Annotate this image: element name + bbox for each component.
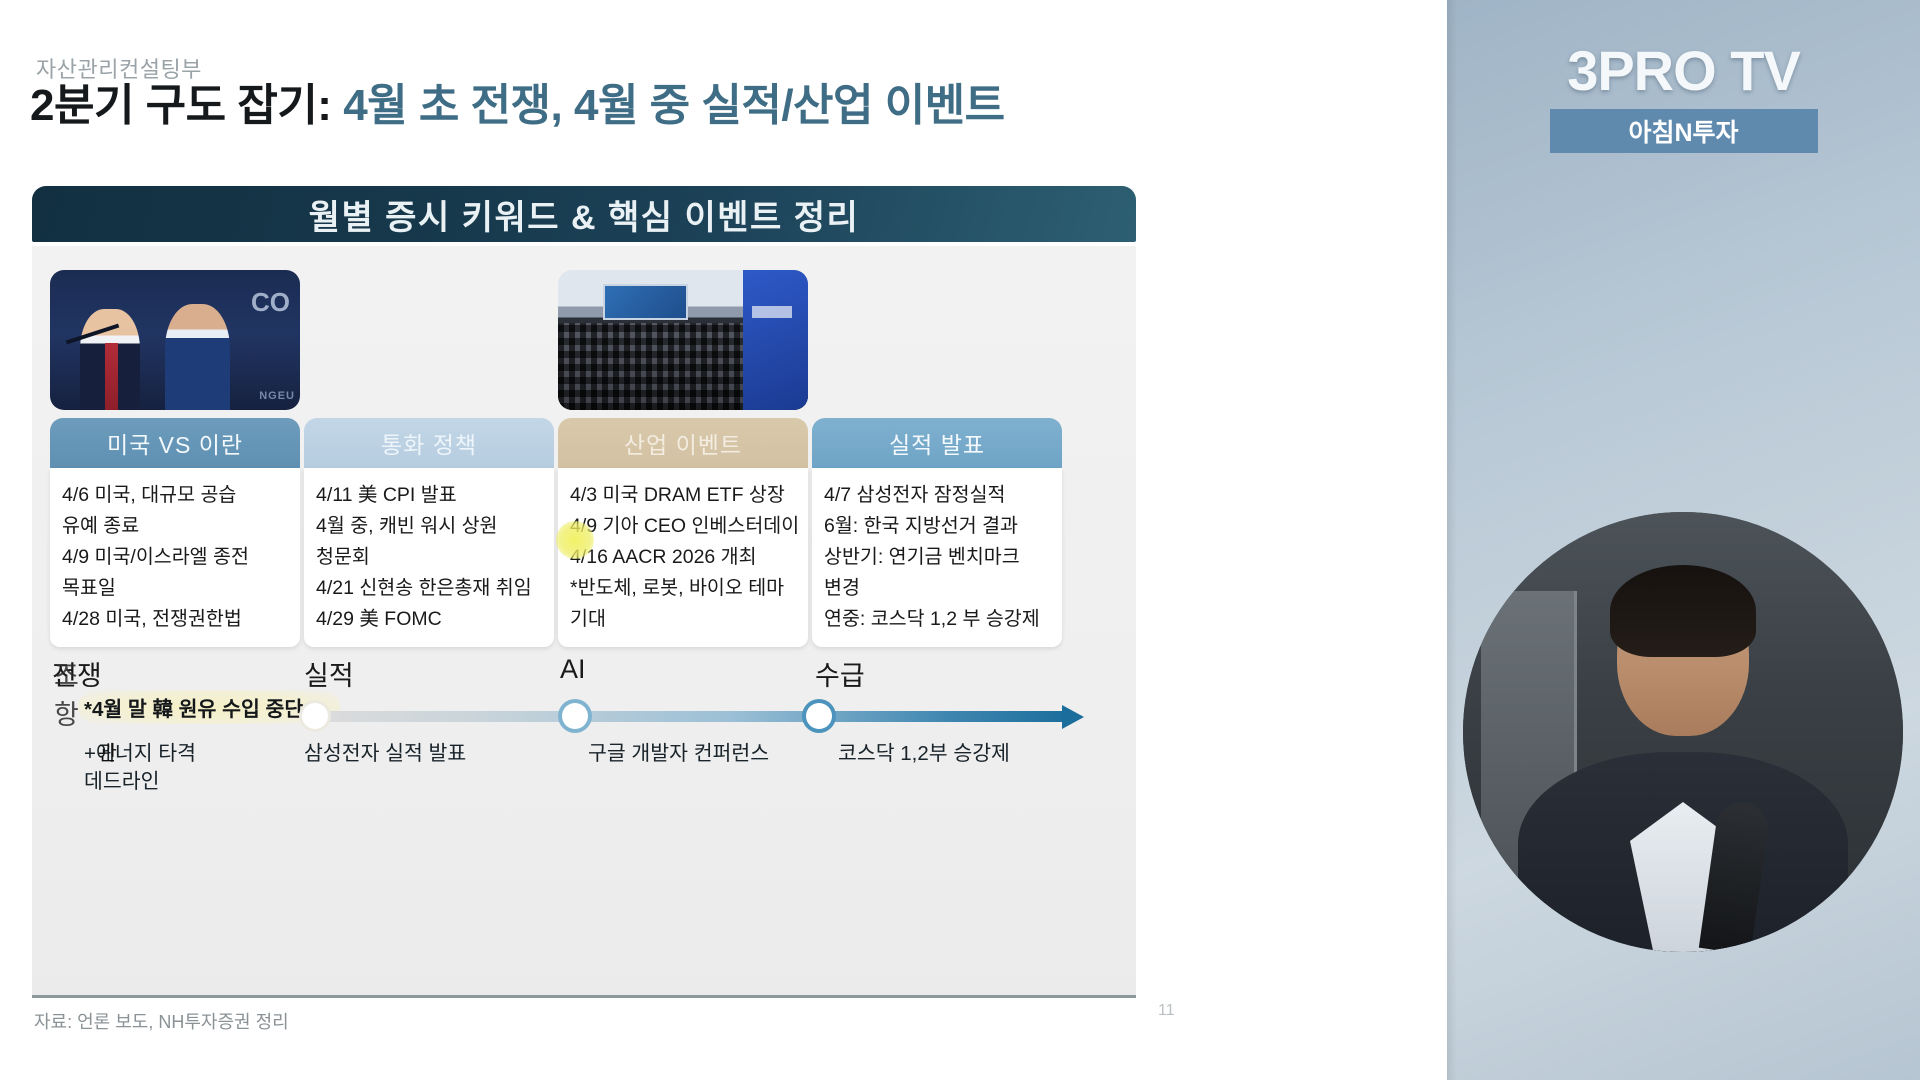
- slide-title: 2분기 구도 잡기: 4월 초 전쟁, 4월 중 실적/산업 이벤트: [30, 78, 1140, 134]
- timeline-caption-ai: 구글 개발자 컨퍼런스: [588, 740, 769, 768]
- event-line: 유예 종료: [62, 511, 290, 542]
- column-monetary-policy: 통화 정책 4/11 美 CPI 발표 4월 중, 캐빈 워시 상원 청문회 4…: [304, 270, 554, 647]
- column-header-label: 산업 이벤트: [624, 426, 742, 460]
- event-line: 4/9 기아 CEO 인베스터데이: [570, 511, 798, 542]
- timeline-marker[interactable]: [562, 703, 588, 729]
- column-body-earnings-reports: 4/7 삼성전자 잠정실적 6월: 한국 지방선거 결과 상반기: 연기금 벤치…: [812, 468, 1062, 647]
- caption-label: 코스닥 1,2부 승강제: [838, 742, 1010, 765]
- stage-heading-war: 조항 전쟁: [52, 654, 102, 693]
- program-badge: 아침N투자: [1550, 109, 1818, 153]
- event-line: 4/29 美 FOMC: [316, 604, 544, 635]
- video-panel: 3PRO TV 아침N투자: [1447, 0, 1920, 1080]
- column-header-industry-events: 산업 이벤트: [558, 418, 808, 468]
- event-line: 4월 중, 캐빈 워시 상원: [316, 511, 544, 542]
- column-header-label: 실적 발표: [889, 426, 985, 460]
- timeline-arrow-icon: [1062, 705, 1084, 729]
- channel-branding: 3PRO TV 아침N투자: [1447, 38, 1920, 153]
- photo-figure-secondary: [165, 304, 230, 410]
- timeline-bar: [312, 711, 1072, 722]
- slide-title-plain: 2분기 구도 잡기:: [30, 81, 343, 130]
- caption-label: 삼성전자 실적 발표: [304, 742, 466, 765]
- photo-stage-screen: [603, 284, 688, 320]
- section-banner: 월별 증시 키워드 & 핵심 이벤트 정리: [32, 186, 1136, 242]
- channel-logo-text: 3PRO TV: [1447, 38, 1920, 103]
- timeline-marker[interactable]: [302, 703, 328, 729]
- panel-divider: [1447, 0, 1457, 1080]
- event-line: 기대: [570, 604, 798, 635]
- section-banner-title: 월별 증시 키워드 & 핵심 이벤트 정리: [309, 190, 860, 239]
- event-line: 4/28 미국, 전쟁권한법: [62, 604, 290, 635]
- column-body-monetary-policy: 4/11 美 CPI 발표 4월 중, 캐빈 워시 상원 청문회 4/21 신현…: [304, 468, 554, 647]
- presentation-slide: 자산관리컨설팅부 2분기 구도 잡기: 4월 초 전쟁, 4월 중 실적/산업 …: [0, 0, 1447, 1080]
- screen-root: 자산관리컨설팅부 2분기 구도 잡기: 4월 초 전쟁, 4월 중 실적/산업 …: [0, 0, 1920, 1080]
- event-line: 연중: 코스닥 1,2 부 승강제: [824, 604, 1052, 635]
- slide-title-accent: 4월 초 전쟁, 4월 중 실적/산업 이벤트: [343, 81, 1004, 130]
- stage-heading-label: 실적: [304, 661, 354, 691]
- event-line: 4/3 미국 DRAM ETF 상장: [570, 480, 798, 511]
- event-line: 4/6 미국, 대규모 공습: [62, 480, 290, 511]
- caption-label: 구글 개발자 컨퍼런스: [588, 742, 769, 765]
- timeline-caption-war: +관에너지 타격 데드라인: [84, 740, 196, 796]
- column-body-industry-events: 4/3 미국 DRAM ETF 상장 4/9 기아 CEO 인베스터데이 4/1…: [558, 468, 808, 647]
- host-hair: [1610, 565, 1756, 657]
- event-line: 4/21 신현송 한은총재 취임: [316, 573, 544, 604]
- stage-heading-label: 수급: [815, 661, 865, 691]
- caption-label-2: 데드라인: [84, 768, 196, 796]
- timeline: [62, 701, 1122, 731]
- event-line: 4/9 미국/이스라엘 종전: [62, 542, 290, 573]
- stage-heading-label: AI: [560, 654, 586, 684]
- event-line: 6월: 한국 지방선거 결과: [824, 511, 1052, 542]
- microphone-icon: [66, 323, 120, 344]
- column-us-vs-iran: CO NGEU 미국 VS 이란 4/6 미국, 대규모 공습 유예 종료 4/…: [50, 270, 300, 647]
- event-line: 4/16 AACR 2026 개최: [570, 542, 798, 573]
- photo-backdrop-logo: CO: [251, 287, 290, 318]
- caption-prefix: +: [84, 742, 96, 765]
- trump-press-conference-photo: CO NGEU: [50, 270, 300, 410]
- shareholder-meeting-hall-photo: [558, 270, 808, 410]
- photo-blue-banner: [743, 270, 808, 410]
- host-portrait: [1463, 512, 1903, 952]
- event-line: 변경: [824, 573, 1052, 604]
- column-header-monetary-policy: 통화 정책: [304, 418, 554, 468]
- timeline-caption-earnings: 삼성전자 실적 발표: [304, 740, 466, 768]
- column-header-us-vs-iran: 미국 VS 이란: [50, 418, 300, 468]
- stage-heading-ai: AI: [560, 654, 586, 685]
- column-header-earnings-reports: 실적 발표: [812, 418, 1062, 468]
- laser-pointer-highlight: [556, 521, 594, 559]
- stage-heading-supply: 수급: [815, 654, 865, 693]
- slide-source-footer: 자료: 언론 보도, NH투자증권 정리: [34, 1008, 289, 1034]
- column-header-label: 미국 VS 이란: [107, 426, 243, 460]
- column-body-us-vs-iran: 4/6 미국, 대규모 공습 유예 종료 4/9 미국/이스라엘 종전 목표일 …: [50, 468, 300, 647]
- event-line: 4/11 美 CPI 발표: [316, 480, 544, 511]
- timeline-marker[interactable]: [806, 703, 832, 729]
- stage-heading-earnings: 실적: [304, 654, 354, 693]
- column-earnings-reports: 실적 발표 4/7 삼성전자 잠정실적 6월: 한국 지방선거 결과 상반기: …: [812, 270, 1062, 647]
- caption-ghost: 관: [98, 740, 117, 768]
- event-line: 상반기: 연기금 벤치마크: [824, 542, 1052, 573]
- event-line: *반도체, 로봇, 바이오 테마: [570, 573, 798, 604]
- event-line: 4/7 삼성전자 잠정실적: [824, 480, 1052, 511]
- event-line: 목표일: [62, 573, 290, 604]
- photo-backdrop-logo-small: NGEU: [259, 390, 295, 402]
- timeline-caption-supply: 코스닥 1,2부 승강제: [838, 740, 1010, 768]
- content-board: CO NGEU 미국 VS 이란 4/6 미국, 대규모 공습 유예 종료 4/…: [32, 246, 1136, 998]
- column-industry-events: 산업 이벤트 4/3 미국 DRAM ETF 상장 4/9 기아 CEO 인베스…: [558, 270, 808, 647]
- event-line: 청문회: [316, 542, 544, 573]
- slide-page-number: 11: [1158, 1002, 1175, 1020]
- column-header-label: 통화 정책: [381, 426, 477, 460]
